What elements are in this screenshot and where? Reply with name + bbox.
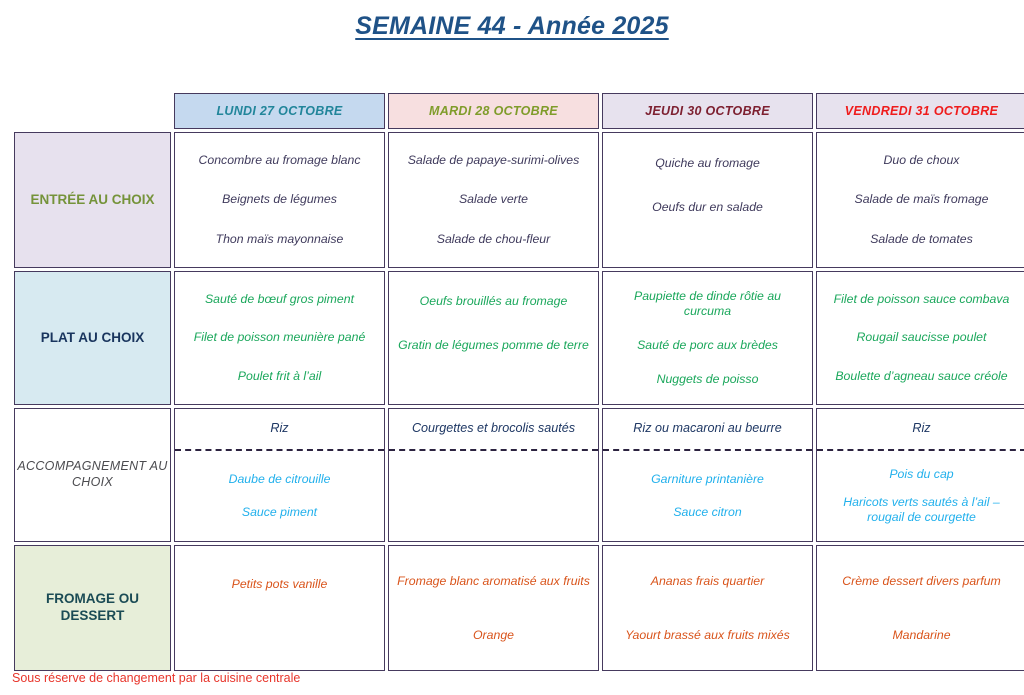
dish-item: Filet de poisson meunière pané: [181, 328, 378, 347]
dish-item: Sauce citron: [609, 503, 806, 522]
row-label-accompagnement: ACCOMPAGNEMENT AU CHOIX: [14, 408, 171, 542]
dish-item: Fromage blanc aromatisé aux fruits: [395, 572, 592, 591]
dish-item: Sauté de bœuf gros piment: [181, 290, 378, 309]
dish-item: Filet de poisson sauce combava: [823, 290, 1020, 309]
dish-item: Gratin de légumes pomme de terre: [395, 336, 592, 355]
day-header-lundi[interactable]: LUNDI 27 OCTOBRE: [174, 93, 385, 129]
dish-item: Riz: [269, 419, 289, 438]
dish-item: Mandarine: [823, 626, 1020, 645]
dish-item: Salade de maïs fromage: [823, 190, 1020, 209]
cell-accompagnement-lundi: Riz Daube de citrouille Sauce piment: [174, 408, 385, 542]
accompagnement-main: Riz: [817, 409, 1024, 451]
dish-item: Oeufs dur en salade: [609, 198, 806, 217]
accompagnement-sides: Daube de citrouille Sauce piment: [175, 451, 384, 541]
dish-item: Haricots verts sautés à l’ail – rougail …: [823, 493, 1020, 527]
dish-item: Poulet frit à l’ail: [181, 367, 378, 386]
dish-item: [395, 480, 592, 484]
cell-dessert-vendredi: Crème dessert divers parfum Mandarine: [816, 545, 1024, 671]
cell-dessert-lundi: Petits pots vanille: [174, 545, 385, 671]
table-row-accompagnement: ACCOMPAGNEMENT AU CHOIX Riz Daube de cit…: [14, 408, 1024, 542]
dish-item: Petits pots vanille: [181, 575, 378, 594]
cell-entree-lundi: Concombre au fromage blanc Beignets de l…: [174, 132, 385, 268]
dish-item: [181, 637, 378, 641]
dish-item: Beignets de légumes: [181, 190, 378, 209]
dish-item: Pois du cap: [823, 465, 1020, 484]
dish-item: Garniture printanière: [609, 470, 806, 489]
dish-item: Riz ou macaroni au beurre: [632, 419, 782, 438]
cell-plat-mardi: Oeufs brouillés au fromage Gratin de lég…: [388, 271, 599, 405]
dish-item: Thon maïs mayonnaise: [181, 230, 378, 249]
dish-item: Sauté de porc aux brèdes: [609, 336, 806, 355]
dish-item: Daube de citrouille: [181, 470, 378, 489]
table-header-row: LUNDI 27 OCTOBRE MARDI 28 OCTOBRE JEUDI …: [14, 93, 1024, 129]
dish-item: [395, 380, 592, 384]
cell-entree-jeudi: Quiche au fromage Oeufs dur en salade: [602, 132, 813, 268]
row-label-dessert: FROMAGE OU DESSERT: [14, 545, 171, 671]
day-header-vendredi[interactable]: VENDREDI 31 OCTOBRE: [816, 93, 1024, 129]
cell-entree-mardi: Salade de papaye-surimi-olives Salade ve…: [388, 132, 599, 268]
accompagnement-main: Courgettes et brocolis sautés: [389, 409, 598, 451]
cell-plat-vendredi: Filet de poisson sauce combava Rougail s…: [816, 271, 1024, 405]
dish-item: Paupiette de dinde rôtie au curcuma: [609, 287, 806, 321]
table-row-plat: PLAT AU CHOIX Sauté de bœuf gros piment …: [14, 271, 1024, 405]
row-label-plat: PLAT AU CHOIX: [14, 271, 171, 405]
day-header-mardi[interactable]: MARDI 28 OCTOBRE: [388, 93, 599, 129]
dish-item: Salade de papaye-surimi-olives: [395, 151, 592, 170]
dish-item: Salade de chou-fleur: [395, 230, 592, 249]
accompagnement-main: Riz: [175, 409, 384, 451]
cell-entree-vendredi: Duo de choux Salade de maïs fromage Sala…: [816, 132, 1024, 268]
dish-item: Crème dessert divers parfum: [823, 572, 1020, 591]
corner-spacer-cell: [14, 93, 171, 129]
dish-item: Nuggets de poisso: [609, 370, 806, 389]
accompagnement-sides: Garniture printanière Sauce citron: [603, 451, 812, 541]
cell-accompagnement-vendredi: Riz Pois du cap Haricots verts sautés à …: [816, 408, 1024, 542]
cell-accompagnement-mardi: Courgettes et brocolis sautés: [388, 408, 599, 542]
cell-accompagnement-jeudi: Riz ou macaroni au beurre Garniture prin…: [602, 408, 813, 542]
dish-item: Concombre au fromage blanc: [181, 151, 378, 170]
weekly-menu-table: LUNDI 27 OCTOBRE MARDI 28 OCTOBRE JEUDI …: [11, 90, 1024, 674]
dish-item: Salade de tomates: [823, 230, 1020, 249]
page-title: SEMAINE 44 - Année 2025: [0, 12, 1024, 41]
dish-item: Oeufs brouillés au fromage: [395, 292, 592, 311]
cell-dessert-mardi: Fromage blanc aromatisé aux fruits Orang…: [388, 545, 599, 671]
day-header-jeudi[interactable]: JEUDI 30 OCTOBRE: [602, 93, 813, 129]
dish-item: Salade verte: [395, 190, 592, 209]
row-label-entree: ENTRÉE AU CHOIX: [14, 132, 171, 268]
dish-item: Yaourt brassé aux fruits mixés: [609, 626, 806, 645]
cell-plat-jeudi: Paupiette de dinde rôtie au curcuma Saut…: [602, 271, 813, 405]
accompagnement-sides: Pois du cap Haricots verts sautés à l’ai…: [817, 451, 1024, 541]
dish-item: [395, 508, 592, 512]
dish-item: Quiche au fromage: [609, 154, 806, 173]
table-row-entree: ENTRÉE AU CHOIX Concombre au fromage bla…: [14, 132, 1024, 268]
dish-item: Boulette d’agneau sauce créole: [823, 367, 1020, 386]
cell-dessert-jeudi: Ananas frais quartier Yaourt brassé aux …: [602, 545, 813, 671]
dish-item: Courgettes et brocolis sautés: [411, 419, 576, 438]
cell-plat-lundi: Sauté de bœuf gros piment Filet de poiss…: [174, 271, 385, 405]
dish-item: Riz: [911, 419, 931, 438]
dish-item: Sauce piment: [181, 503, 378, 522]
accompagnement-main: Riz ou macaroni au beurre: [603, 409, 812, 451]
dish-item: Orange: [395, 626, 592, 645]
dish-item: Rougail saucisse poulet: [823, 328, 1020, 347]
accompagnement-sides: [389, 451, 598, 541]
dish-item: Duo de choux: [823, 151, 1020, 170]
dish-item: [609, 242, 806, 246]
table-row-dessert: FROMAGE OU DESSERT Petits pots vanille F…: [14, 545, 1024, 671]
dish-item: Ananas frais quartier: [609, 572, 806, 591]
